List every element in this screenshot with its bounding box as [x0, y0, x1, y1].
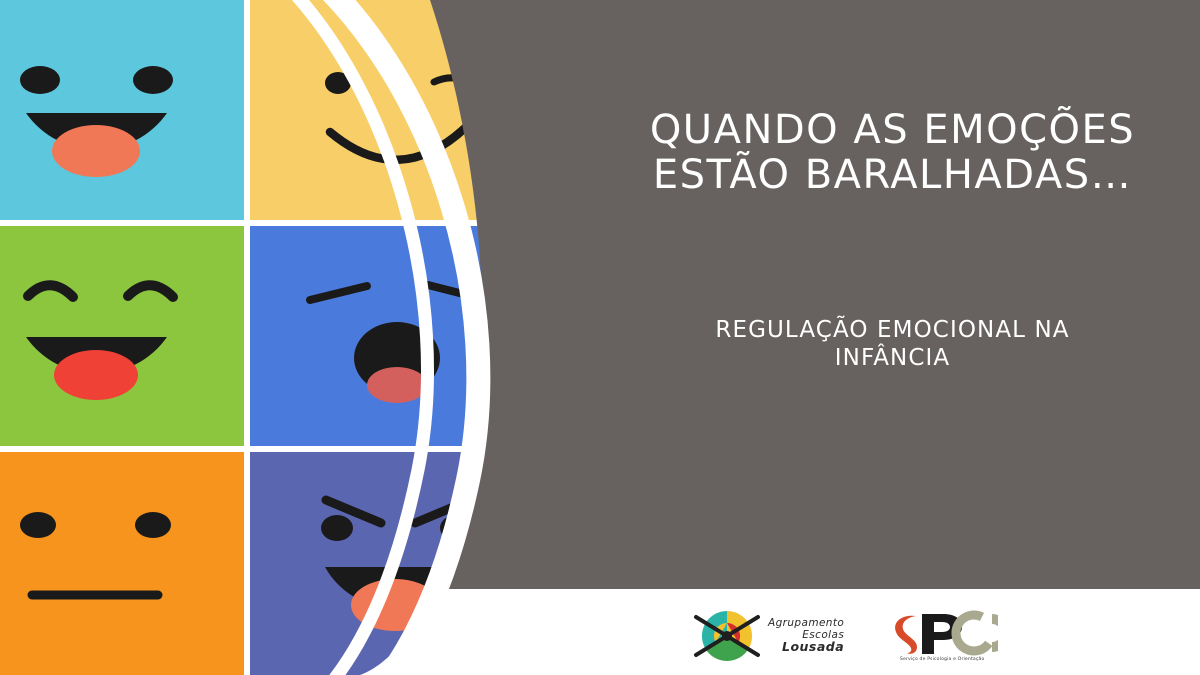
spo-logo: Serviço de Psicologia e Orientação	[886, 610, 998, 662]
spo-s-letter	[895, 616, 917, 654]
slide-text-block: Quando as emoções estão baralhadas… Regu…	[585, 0, 1200, 589]
tile-bg-wink	[250, 0, 530, 220]
grid-divider-horizontal-2	[0, 446, 530, 452]
spo-o-ring	[949, 610, 998, 656]
presentation-slide: Quando as emoções estão baralhadas… Regu…	[0, 0, 1200, 675]
agrupamento-escolas-lousada-logo: Agrupamento Escolas Lousada	[690, 606, 844, 666]
lousada-line-3: Lousada	[782, 641, 844, 654]
spo-logo-subtitle: Serviço de Psicologia e Orientação	[900, 657, 985, 662]
grid-divider-vertical	[244, 0, 250, 675]
school-emblem-icon	[690, 606, 764, 666]
footer-logos: Agrupamento Escolas Lousada Serviço de P…	[690, 600, 1070, 672]
lousada-line-1: Agrupamento	[768, 618, 844, 629]
page-title: Quando as emoções estão baralhadas…	[585, 108, 1200, 198]
spo-monogram-icon	[886, 610, 998, 656]
tile-bg-neutral	[0, 452, 244, 675]
spo-o-letter	[992, 614, 998, 652]
lousada-logo-text: Agrupamento Escolas Lousada	[768, 618, 844, 654]
page-subtitle: Regulação emocional na infância	[585, 316, 1200, 372]
emoji-collage	[0, 0, 530, 675]
tile-bg-laughing	[0, 226, 244, 446]
tile-bg-happy	[0, 0, 244, 220]
